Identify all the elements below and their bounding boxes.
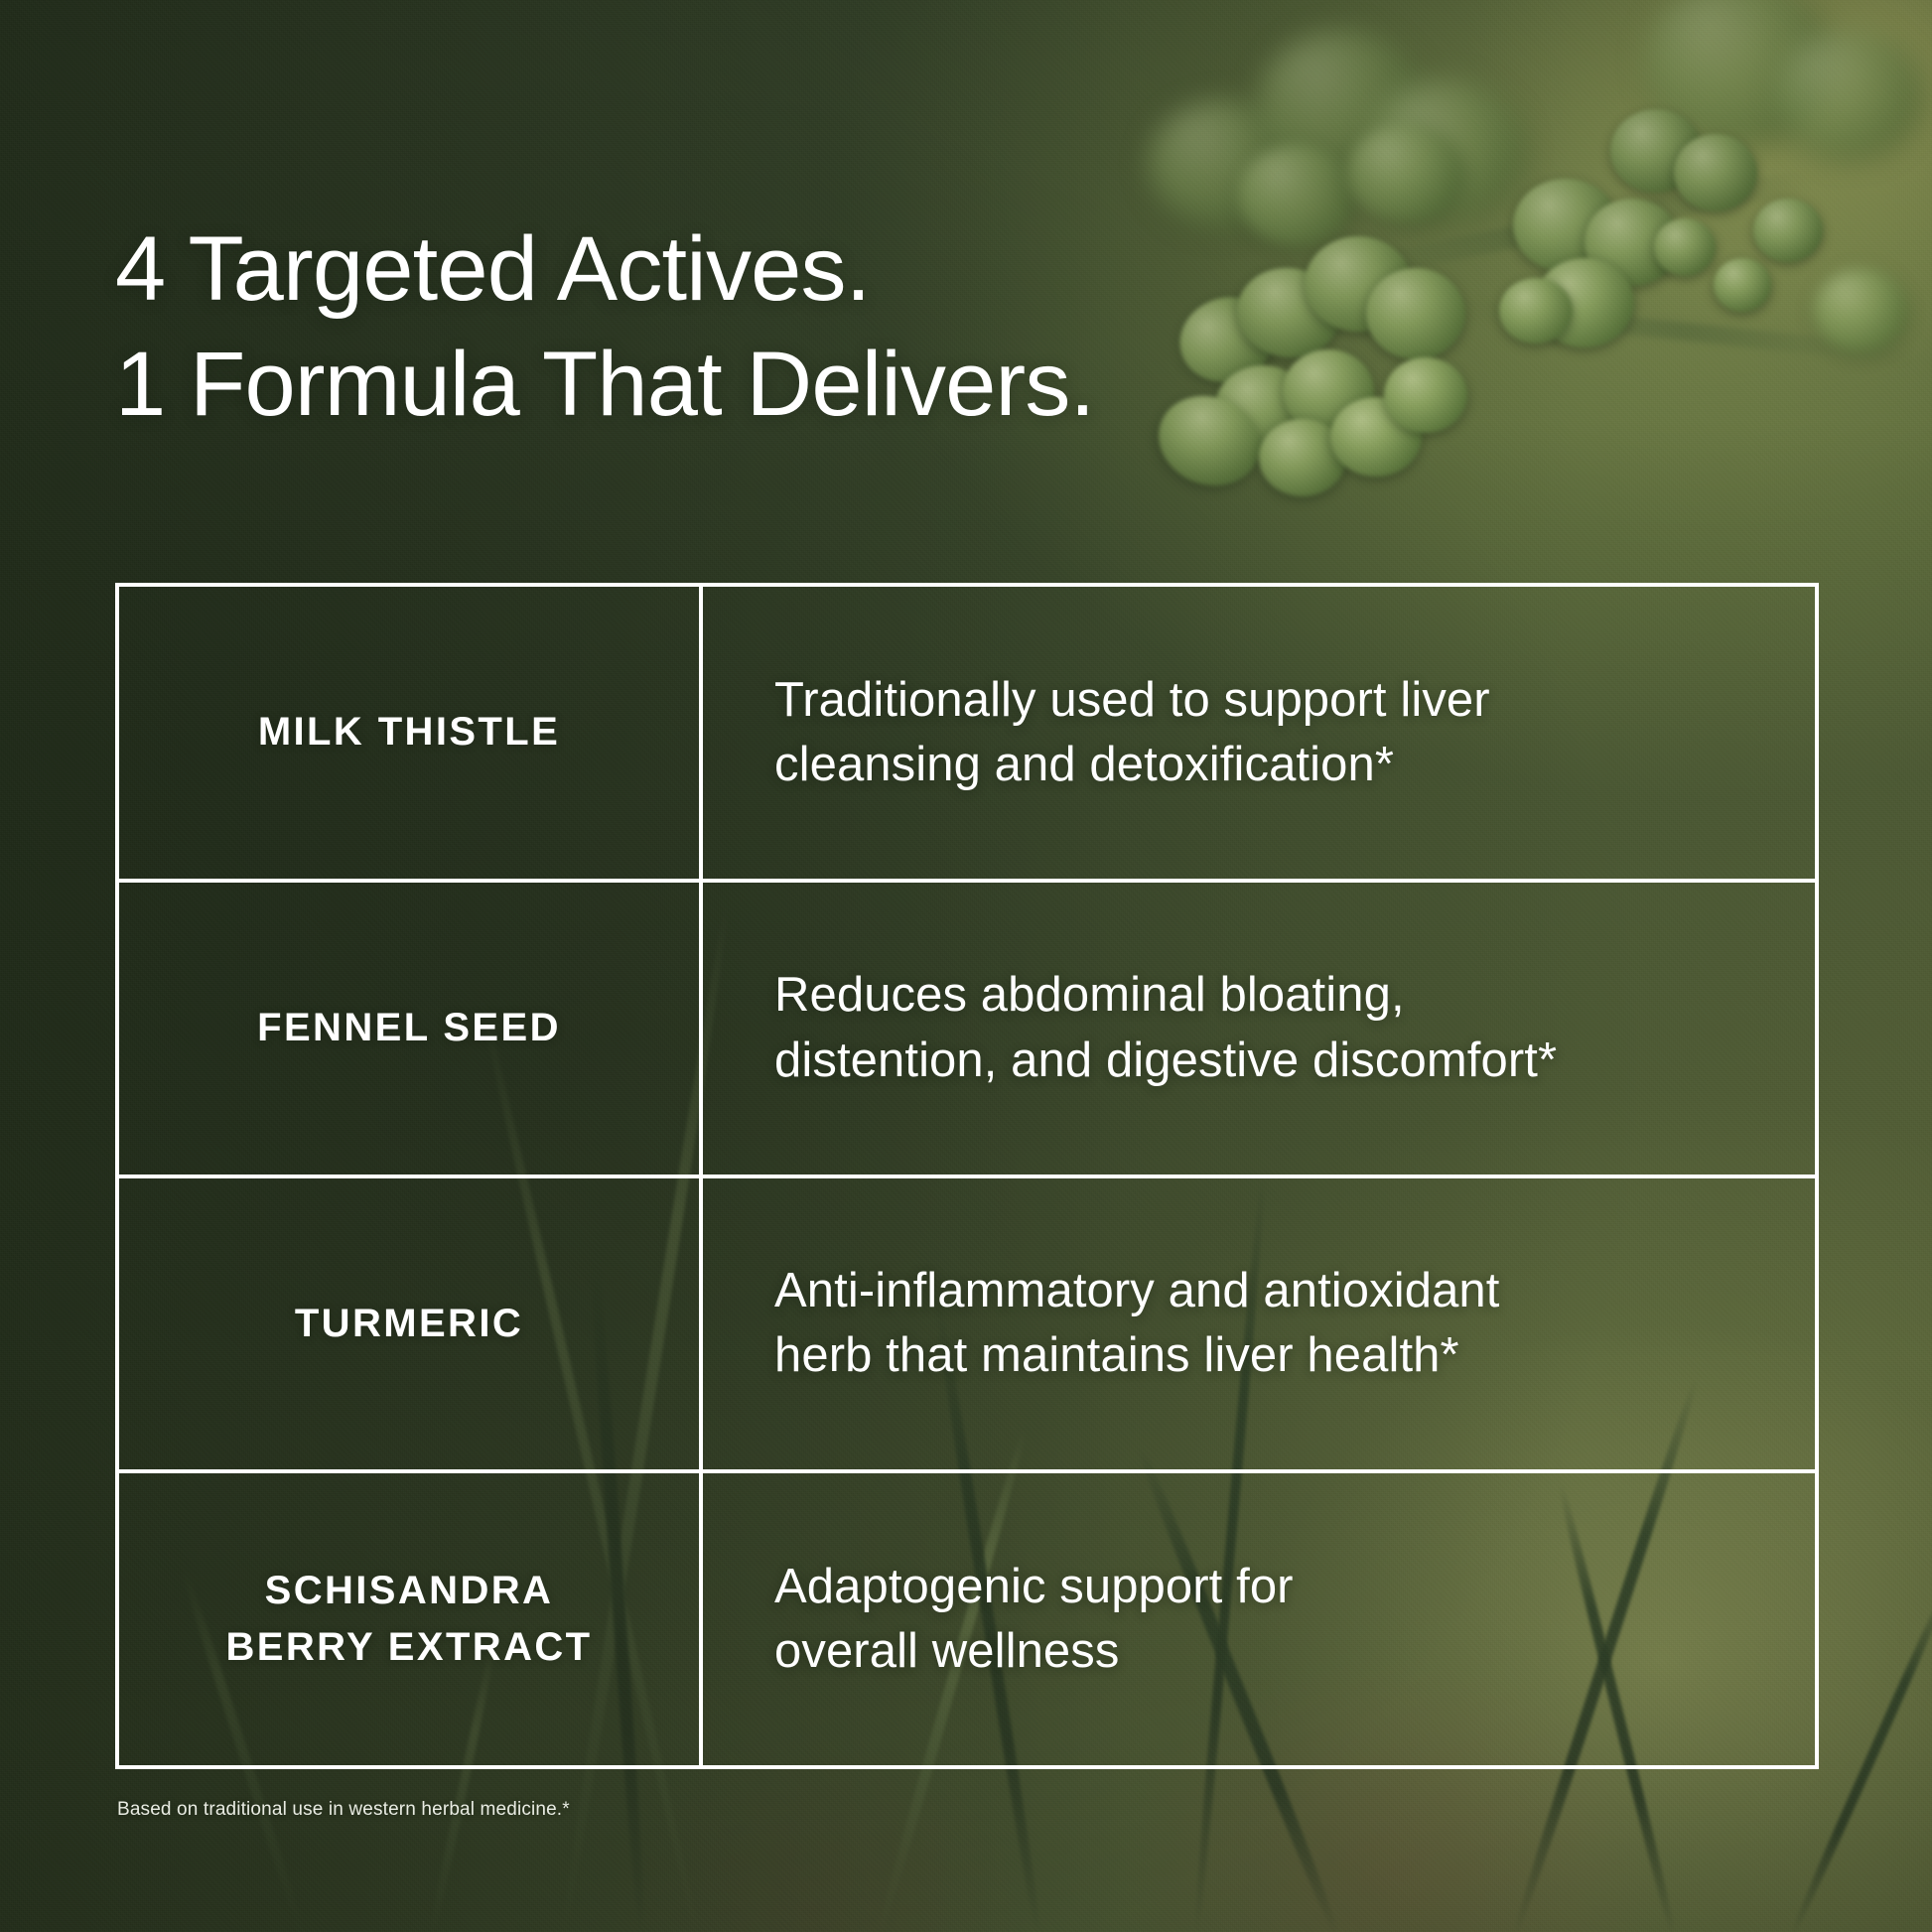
ingredient-description: Adaptogenic support for overall wellness bbox=[774, 1555, 1294, 1684]
page-title: 4 Targeted Actives. 1 Formula That Deliv… bbox=[115, 212, 1094, 443]
ingredient-description-cell: Reduces abdominal bloating, distention, … bbox=[703, 883, 1815, 1174]
ingredient-name: TURMERIC bbox=[295, 1296, 523, 1352]
ingredients-table: MILK THISTLE Traditionally used to suppo… bbox=[115, 583, 1819, 1769]
ingredient-description-cell: Traditionally used to support liver clea… bbox=[703, 587, 1815, 879]
ingredient-name: SCHISANDRA BERRY EXTRACT bbox=[225, 1563, 592, 1676]
table-row: FENNEL SEED Reduces abdominal bloating, … bbox=[119, 883, 1815, 1178]
table-row: SCHISANDRA BERRY EXTRACT Adaptogenic sup… bbox=[119, 1473, 1815, 1765]
ingredient-name-cell: FENNEL SEED bbox=[119, 883, 703, 1174]
ingredient-description-cell: Adaptogenic support for overall wellness bbox=[703, 1473, 1815, 1765]
ingredient-description-cell: Anti-inflammatory and antioxidant herb t… bbox=[703, 1178, 1815, 1470]
ingredient-description: Traditionally used to support liver clea… bbox=[774, 668, 1490, 797]
ingredient-name-cell: MILK THISTLE bbox=[119, 587, 703, 879]
ingredient-name: MILK THISTLE bbox=[258, 704, 560, 760]
ingredient-description: Anti-inflammatory and antioxidant herb t… bbox=[774, 1259, 1500, 1388]
ingredient-name: FENNEL SEED bbox=[257, 1000, 561, 1056]
table-row: MILK THISTLE Traditionally used to suppo… bbox=[119, 587, 1815, 883]
ingredient-name-cell: SCHISANDRA BERRY EXTRACT bbox=[119, 1473, 703, 1765]
ingredient-description: Reduces abdominal bloating, distention, … bbox=[774, 963, 1557, 1092]
ingredient-name-cell: TURMERIC bbox=[119, 1178, 703, 1470]
disclaimer-footnote: Based on traditional use in western herb… bbox=[117, 1799, 570, 1821]
table-row: TURMERIC Anti-inflammatory and antioxida… bbox=[119, 1178, 1815, 1474]
promo-graphic: 4 Targeted Actives. 1 Formula That Deliv… bbox=[0, 0, 1932, 1932]
